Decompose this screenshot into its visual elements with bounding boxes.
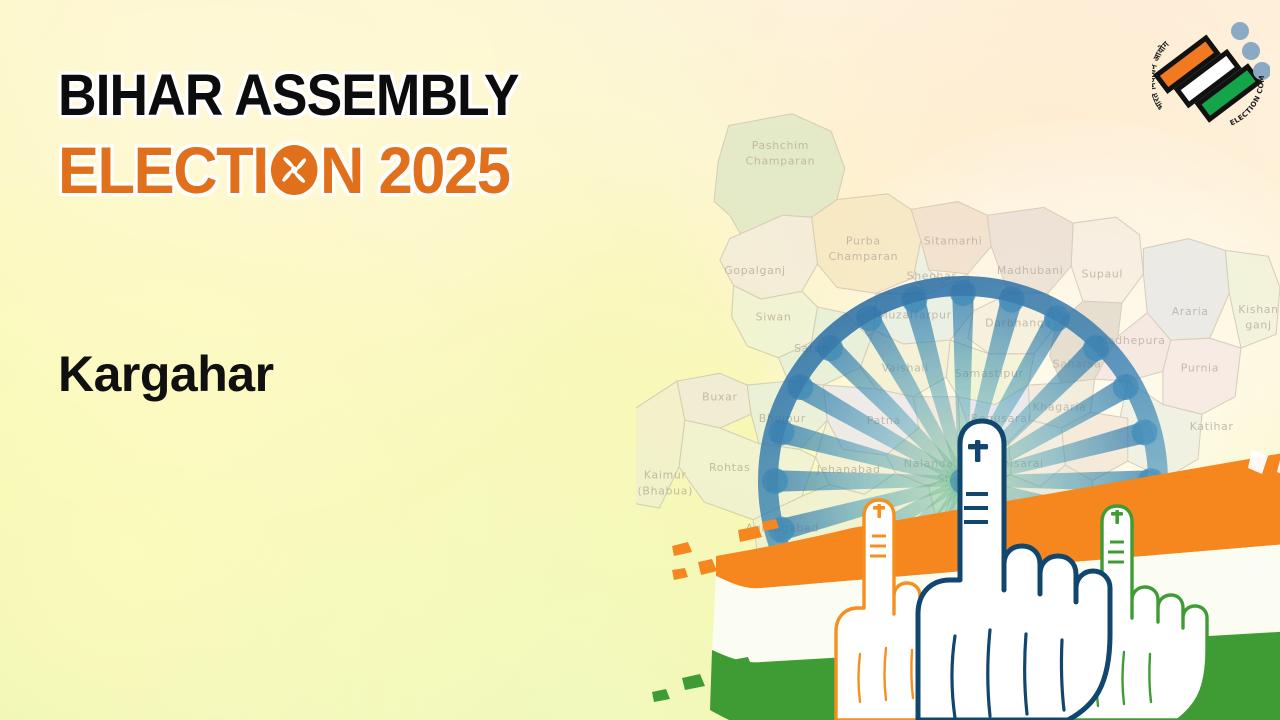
svg-text:Pashchim: Pashchim: [752, 139, 809, 152]
svg-text:Champaran: Champaran: [746, 155, 816, 168]
svg-text:Kishan: Kishan: [1238, 303, 1278, 316]
page-title-line2-after: N 2025: [320, 136, 510, 204]
svg-text:ganj: ganj: [1245, 318, 1271, 331]
hand-center-navy: [918, 421, 1110, 720]
poster-canvas: Pashchim Champaran Purba Champaran Gopal…: [0, 0, 1280, 720]
headline-block: BIHAR ASSEMBLY ELECTI N 2025: [58, 66, 718, 204]
eci-logo: भारत निर्वाचन आयोग ELECTION COMMISSION O…: [1152, 14, 1270, 132]
constituency-name: Kargahar: [58, 345, 274, 403]
voter-hands-group: [790, 418, 1220, 720]
page-title-line2: ELECTI N 2025: [58, 136, 672, 204]
district-shape: [1225, 250, 1280, 348]
page-title-line1: BIHAR ASSEMBLY: [58, 66, 665, 126]
ballot-x-mark-icon: [269, 143, 319, 197]
page-title-line2-before: ELECTI: [58, 136, 268, 204]
